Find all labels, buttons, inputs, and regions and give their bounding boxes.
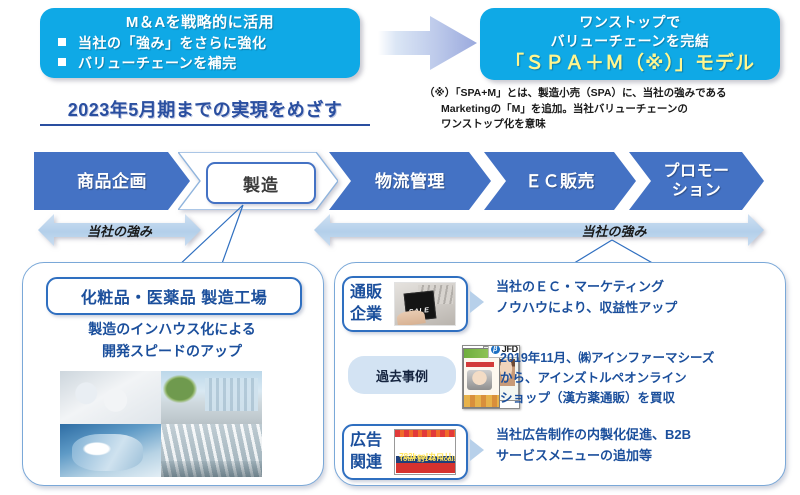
strategy-banner-title: M＆Aを戦略的に活用 (40, 13, 360, 33)
factory-photo-lab (60, 424, 161, 477)
factory-photo-grid (60, 371, 262, 477)
flow-step-ec-sales-label: ＥＣ販売 (525, 172, 595, 191)
row-advertising-text-line2: サービスメニューの追加等 (496, 445, 786, 466)
footnote-line-2: Marketingの「M」を追加。当社バリューチェーンの (424, 102, 796, 118)
slide-canvas: M＆Aを戦略的に活用 当社の「強み」をさらに強化 バリューチェーンを補完 ワンス… (0, 0, 800, 495)
target-headline: 2023年5月期までの実現をめざす (40, 96, 370, 126)
strategy-bullet-1: 当社の「強み」をさらに強化 (40, 33, 360, 53)
model-banner-right: ワンストップで バリューチェーンを完結 「ＳＰＡ＋Ｍ（※）」モデル (480, 8, 780, 80)
square-bullet-icon (58, 58, 66, 66)
factory-photo-building (161, 371, 262, 424)
row-advertising-text: 当社広告制作の内製化促進、B2B サービスメニューの追加等 (496, 424, 786, 466)
jfd-mark-glyph: β (491, 345, 500, 354)
row-past-case-text: 2019年11月、㈱アインファーマシーズ から、アインズトルペオンライン ショッ… (500, 348, 800, 408)
ad-bottom-label: 783kcalカロリーカット！ (396, 463, 456, 473)
flow-step-manufacturing-label: 製造 (243, 171, 279, 196)
model-banner-line3: 「ＳＰＡ＋Ｍ（※）」モデル (480, 51, 780, 76)
manufacturing-body-text: 製造のインハウス化による 開発スピードのアップ (38, 318, 306, 362)
right-arrow-icon (378, 14, 478, 72)
row-ec-company-arrow-icon (470, 291, 484, 313)
spa-m-footnote: （※）「SPA+M」とは、製造小売（SPA）に、当社の強みである Marketi… (424, 86, 796, 133)
square-bullet-icon (58, 38, 66, 46)
row-ec-company-badge-label: 通販 企業 (350, 282, 394, 326)
strategy-banner-left: M＆Aを戦略的に活用 当社の「強み」をさらに強化 バリューチェーンを補完 (40, 8, 360, 78)
row-past-case-badge-label: 過去事例 (376, 366, 428, 385)
factory-pill-text: 化粧品・医薬品 製造工場 (81, 284, 267, 308)
model-banner-line1: ワンストップで (480, 13, 780, 32)
row-ec-company-text: 当社のＥＣ・マーケティング ノウハウにより、収益性アップ (496, 276, 786, 318)
footnote-line-3: ワンストップ化を意味 (424, 117, 796, 133)
advertisement-thumbnail: Total 約1467kcal! 783kcalカロリーカット！ (394, 429, 456, 475)
factory-photo-workers (60, 371, 161, 424)
sale-tablet-thumbnail: SALE (394, 282, 456, 326)
manufacturing-body-line1: 製造のインハウス化による (38, 318, 306, 340)
row-past-case-text-line1: 2019年11月、㈱アインファーマシーズ (500, 348, 800, 368)
row-advertising-text-line1: 当社広告制作の内製化促進、B2B (496, 424, 786, 445)
strategy-bullet-1-label: 当社の「強み」をさらに強化 (78, 35, 267, 51)
strategy-bullet-2: バリューチェーンを補完 (40, 53, 360, 73)
row-past-case-text-line2: から、アインズトルペオンライン (500, 368, 800, 388)
flow-step-logistics-label: 物流管理 (375, 172, 445, 191)
row-past-case-text-line3: ショップ（漢方薬通販）を買収 (500, 388, 800, 408)
row-ec-company-badge[interactable]: 通販 企業 SALE (342, 276, 468, 332)
row-ec-company-text-line1: 当社のＥＣ・マーケティング (496, 276, 786, 297)
factory-photo-line (161, 424, 262, 477)
row-advertising-badge-label: 広告 関連 (350, 430, 394, 474)
model-banner-line2: バリューチェーンを完結 (480, 32, 780, 51)
manufacturing-body-line2: 開発スピードのアップ (38, 340, 306, 362)
row-advertising-arrow-icon (470, 439, 484, 461)
factory-pill-label[interactable]: 化粧品・医薬品 製造工場 (46, 277, 302, 315)
row-ec-company-text-line2: ノウハウにより、収益性アップ (496, 297, 786, 318)
row-advertising-badge[interactable]: 広告 関連 Total 約1467kcal! 783kcalカロリーカット！ (342, 424, 468, 480)
row-past-case-badge[interactable]: 過去事例 (348, 356, 456, 394)
footnote-line-1: （※）「SPA+M」とは、製造小売（SPA）に、当社の強みである (424, 86, 796, 102)
flow-step-product-planning-label: 商品企画 (77, 172, 147, 191)
strategy-bullet-2-label: バリューチェーンを補完 (78, 55, 237, 71)
